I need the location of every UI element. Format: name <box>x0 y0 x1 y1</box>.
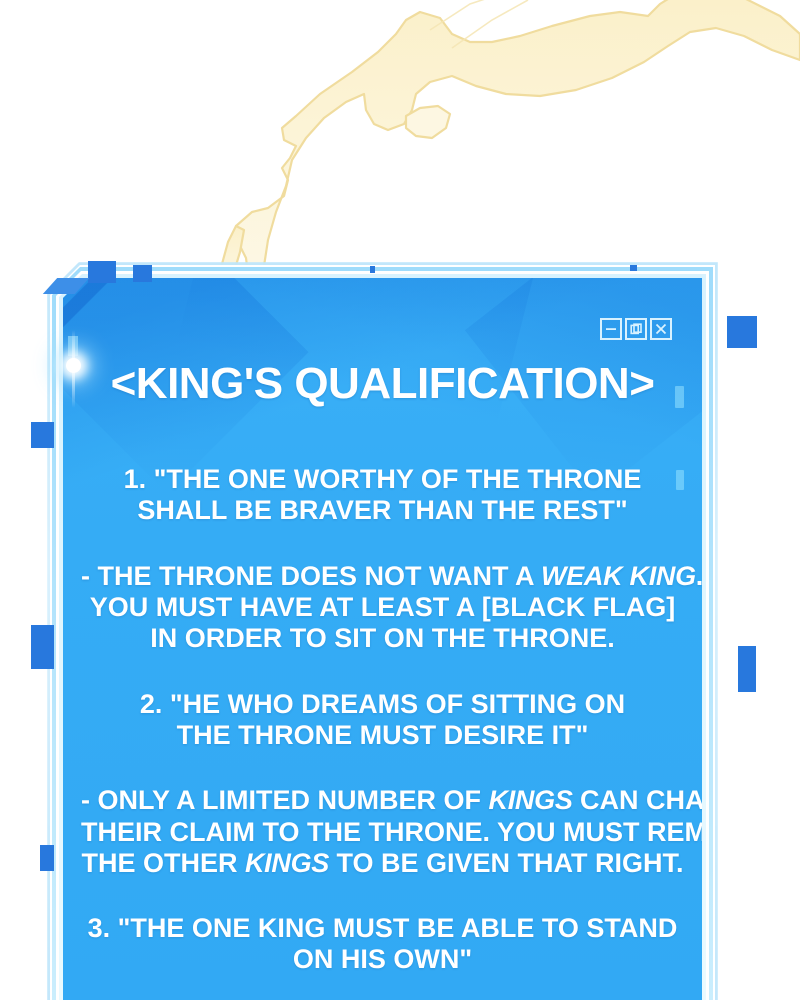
rule-2-heading-line-2: THE THRONE MUST DESIRE IT" <box>81 720 684 751</box>
tab-left-middle <box>31 625 54 669</box>
tab-top-right-dot <box>630 265 637 271</box>
rule-2-body-line-1-post: CAN CHALLENGE <box>573 785 702 815</box>
tab-left-lower <box>40 845 54 871</box>
rule-2-body-line-3: THE OTHER KINGS TO BE GIVEN THAT RIGHT. <box>81 848 684 879</box>
rule-1-heading-line-2: SHALL BE BRAVER THAN THE REST" <box>81 495 684 526</box>
tab-top-center-dot <box>370 266 375 273</box>
rule-1-body-line-1-post: . <box>696 561 702 591</box>
rule-2-heading-line-1: 2. "HE WHO DREAMS OF SITTING ON <box>81 689 684 720</box>
rule-2-emphasis-kings-a: KINGS <box>489 785 573 815</box>
rule-2-body-line-3-post: TO BE GIVEN THAT RIGHT. <box>329 848 684 878</box>
rule-2-heading: 2. "HE WHO DREAMS OF SITTING ON THE THRO… <box>81 689 684 752</box>
tab-right-middle <box>738 646 756 692</box>
rule-1-emphasis-weak-king: WEAK KING <box>541 561 696 591</box>
minimize-button[interactable] <box>600 318 622 340</box>
golden-lineart-decoration <box>0 0 800 290</box>
tab-top-left-small <box>133 265 152 282</box>
rule-2-body: - ONLY A LIMITED NUMBER OF KINGS CAN CHA… <box>81 785 684 879</box>
rule-1-body-line-1: - THE THRONE DOES NOT WANT A WEAK KING. <box>81 561 684 592</box>
tab-top-left-large <box>88 261 116 283</box>
rule-2-body-line-3-pre: THE OTHER <box>81 848 245 878</box>
rule-1-body-line-2: YOU MUST HAVE AT LEAST A [BLACK FLAG] <box>81 592 684 623</box>
panel-marker-right-lower <box>676 470 684 490</box>
rule-1-body-line-3: IN ORDER TO SIT ON THE THRONE. <box>81 623 684 654</box>
panel-marker-right-upper <box>675 386 684 408</box>
rule-1-body-line-1-pre: - THE THRONE DOES NOT WANT A <box>81 561 541 591</box>
rule-3-heading-line-2: ON HIS OWN" <box>81 944 684 975</box>
rule-2-body-line-1-pre: - ONLY A LIMITED NUMBER OF <box>81 785 489 815</box>
rule-2-emphasis-kings-b: KINGS <box>245 848 329 878</box>
rule-2-body-line-2: THEIR CLAIM TO THE THRONE. YOU MUST REMO… <box>81 817 684 848</box>
maximize-icon <box>630 323 642 335</box>
rule-1-heading-line-1: 1. "THE ONE WORTHY OF THE THRONE <box>81 464 684 495</box>
glow-accent-dot <box>66 358 81 373</box>
window-panel: <KING'S QUALIFICATION> 1. "THE ONE WORTH… <box>63 278 702 1000</box>
tab-left-upper <box>31 422 54 448</box>
rule-1-heading: 1. "THE ONE WORTHY OF THE THRONE SHALL B… <box>81 464 684 527</box>
screenshot-canvas: <KING'S QUALIFICATION> 1. "THE ONE WORTH… <box>0 0 800 1000</box>
window-controls <box>600 318 672 340</box>
tab-right-upper <box>727 316 757 348</box>
minimize-icon <box>605 323 617 335</box>
rule-3-heading: 3. "THE ONE KING MUST BE ABLE TO STAND O… <box>81 913 684 976</box>
rule-2-body-line-1: - ONLY A LIMITED NUMBER OF KINGS CAN CHA… <box>81 785 684 816</box>
close-button[interactable] <box>650 318 672 340</box>
maximize-button[interactable] <box>625 318 647 340</box>
rule-3-heading-line-1: 3. "THE ONE KING MUST BE ABLE TO STAND <box>81 913 684 944</box>
window-content: <KING'S QUALIFICATION> 1. "THE ONE WORTH… <box>63 362 702 976</box>
close-icon <box>655 323 667 335</box>
rule-1-body: - THE THRONE DOES NOT WANT A WEAK KING. … <box>81 561 684 655</box>
page-title: <KING'S QUALIFICATION> <box>81 362 684 406</box>
kings-qualification-window: <KING'S QUALIFICATION> 1. "THE ONE WORTH… <box>47 262 718 1000</box>
